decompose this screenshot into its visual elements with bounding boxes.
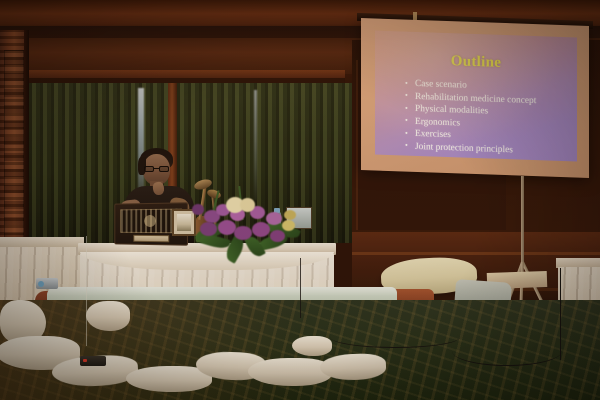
slide-surface: Outline Case scenario Rehabilitation med… bbox=[375, 31, 577, 162]
curtain-light-gap-secondary bbox=[254, 90, 257, 200]
projector bbox=[36, 278, 58, 289]
hanging-cable bbox=[560, 268, 588, 360]
floor-cloth bbox=[292, 336, 332, 356]
table-cable bbox=[86, 236, 100, 346]
table-cable bbox=[300, 258, 326, 318]
framed-photo bbox=[172, 209, 196, 236]
laptop-name-label bbox=[133, 234, 169, 241]
screen-tripod-pole bbox=[521, 176, 524, 268]
projection-screen: Outline Case scenario Rehabilitation med… bbox=[361, 18, 589, 178]
floral-arrangement bbox=[196, 196, 304, 260]
presenter-glasses bbox=[144, 166, 169, 172]
floor-cable bbox=[330, 326, 460, 348]
wood-wall-trim-upper bbox=[352, 252, 600, 255]
presentation-room-photo: Outline Case scenario Rehabilitation med… bbox=[0, 0, 600, 400]
power-strip bbox=[80, 356, 106, 366]
floor-cloth bbox=[248, 358, 332, 386]
floor-cable bbox=[452, 336, 562, 366]
slide-bullet-list: Case scenario Rehabilitation medicine co… bbox=[405, 78, 569, 159]
slide-title: Outline bbox=[375, 51, 577, 75]
